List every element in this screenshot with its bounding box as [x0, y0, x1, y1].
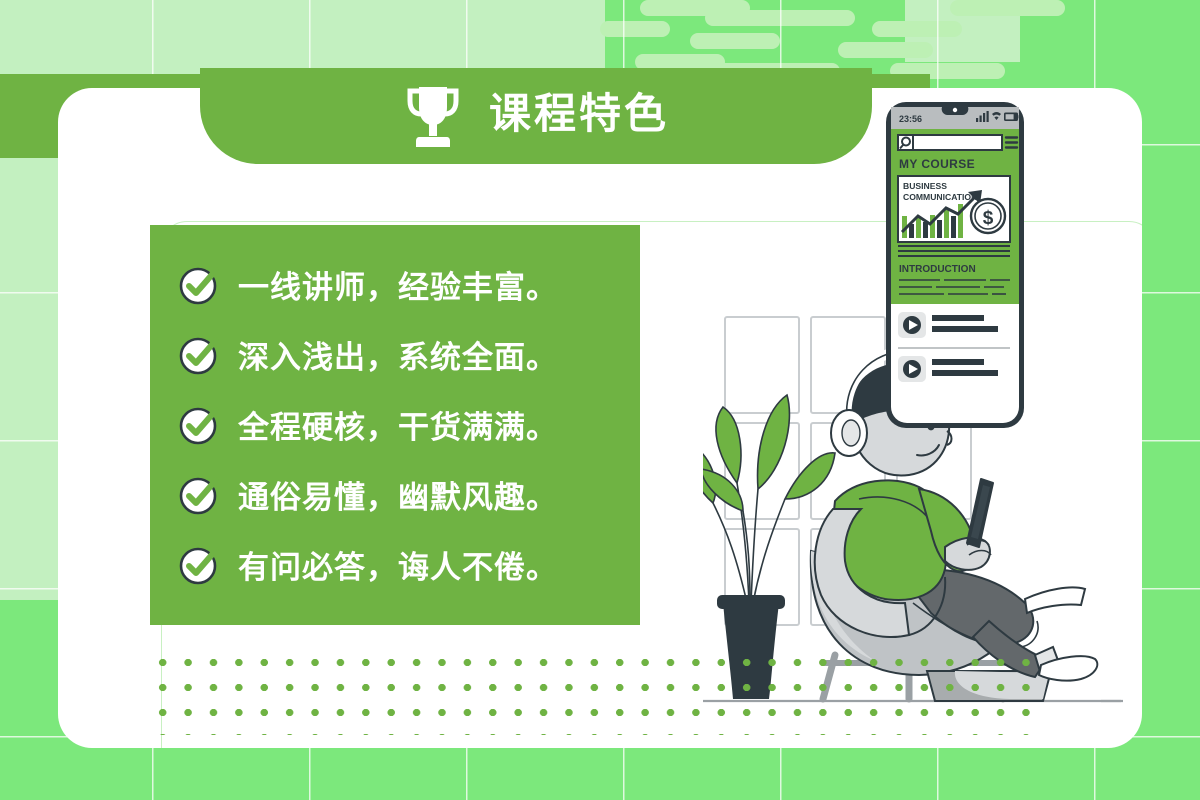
battery-icon — [1004, 113, 1020, 122]
feature-label: 全程硬核，干货满满。 — [238, 402, 558, 447]
feature-label: 通俗易懂，幽默风趣。 — [238, 472, 558, 517]
decorative-dot-grid — [150, 650, 1045, 735]
banner-title: 课程特色 — [489, 93, 669, 139]
course-title-line2: COMMUNICATION — [903, 192, 977, 202]
svg-text:$: $ — [983, 208, 994, 229]
feature-item-5: 有问必答，诲人不倦。 — [178, 535, 640, 593]
feature-label: 一线讲师，经验丰富。 — [238, 262, 558, 307]
feature-item-4: 通俗易懂，幽默风趣。 — [178, 465, 640, 523]
phone-search-bar — [898, 135, 1002, 150]
slide-canvas: 23:56 — [0, 0, 1200, 800]
title-banner: 课程特色 — [200, 68, 872, 164]
phone-mockup: 23:56 — [884, 100, 1026, 430]
content-card: 23:56 — [58, 88, 1142, 748]
course-title-line1: BUSINESS — [903, 181, 947, 191]
features-panel: 一线讲师，经验丰富。 深入浅出，系统全面。 — [150, 225, 640, 625]
feature-item-2: 深入浅出，系统全面。 — [178, 325, 640, 383]
feature-item-3: 全程硬核，干货满满。 — [178, 395, 640, 453]
feature-label: 深入浅出，系统全面。 — [238, 332, 558, 377]
check-circle-icon — [178, 402, 222, 446]
phone-section-label: INTRODUCTION — [899, 264, 976, 275]
feature-item-1: 一线讲师，经验丰富。 — [178, 255, 640, 313]
phone-status-time: 23:56 — [899, 114, 922, 124]
check-circle-icon — [178, 332, 222, 376]
dollar-coin-icon: $ — [971, 199, 1005, 233]
check-circle-icon — [178, 472, 222, 516]
phone-heading: MY COURSE — [899, 157, 975, 171]
check-circle-icon — [178, 542, 222, 586]
check-circle-icon — [178, 262, 222, 306]
trophy-icon — [403, 81, 463, 151]
feature-label: 有问必答，诲人不倦。 — [238, 542, 558, 587]
